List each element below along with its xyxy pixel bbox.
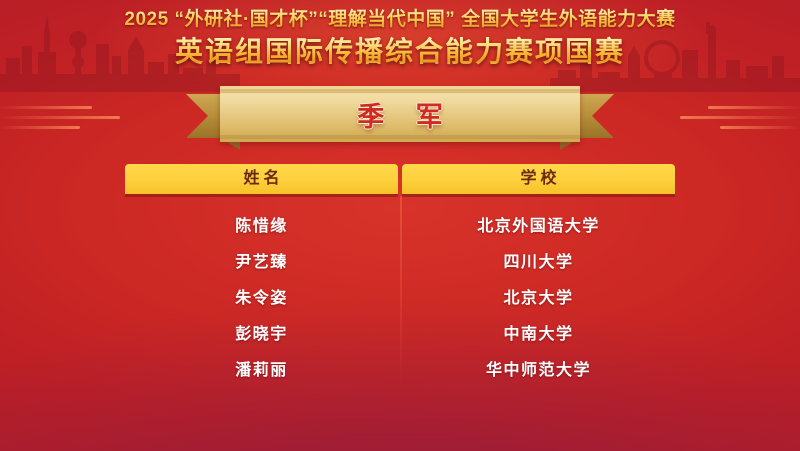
speed-line-right-2 [680, 116, 800, 119]
title-line-1: 2025 “外研社·国才杯”“理解当代中国” 全国大学生外语能力大赛 [0, 8, 800, 32]
cell-school: 中南大学 [402, 320, 675, 344]
cell-name: 陈惜缘 [125, 212, 398, 236]
cell-school: 北京大学 [402, 284, 675, 308]
speed-line-left-3 [0, 126, 80, 129]
title-line-2: 英语组国际传播综合能力赛项国赛 [0, 34, 800, 70]
column-divider [400, 196, 402, 386]
speed-line-left-2 [0, 116, 120, 119]
cell-name: 尹艺臻 [125, 248, 398, 272]
awards-slide: 2025 “外研社·国才杯”“理解当代中国” 全国大学生外语能力大赛 英语组国际… [0, 0, 800, 451]
page-title: 2025 “外研社·国才杯”“理解当代中国” 全国大学生外语能力大赛 英语组国际… [0, 8, 800, 70]
speed-line-left-1 [0, 106, 92, 109]
cell-name: 朱令姿 [125, 284, 398, 308]
cell-name: 彭晓宇 [125, 320, 398, 344]
table-header-row: 姓名 学校 [125, 164, 675, 194]
cell-name: 潘莉丽 [125, 356, 398, 380]
winners-table: 姓名 学校 陈惜缘 北京外国语大学 尹艺臻 四川大学 朱令姿 北京大学 彭晓宇 … [125, 164, 675, 386]
speed-line-right-3 [720, 126, 800, 129]
cell-school: 华中师范大学 [402, 356, 675, 380]
award-ribbon: 季 军 [220, 86, 580, 142]
column-header-school: 学校 [402, 164, 675, 194]
ribbon-label: 季 军 [220, 86, 580, 142]
column-header-name: 姓名 [125, 164, 398, 194]
speed-line-right-1 [708, 106, 800, 109]
table-body: 陈惜缘 北京外国语大学 尹艺臻 四川大学 朱令姿 北京大学 彭晓宇 中南大学 潘… [125, 206, 675, 386]
cell-school: 四川大学 [402, 248, 675, 272]
cell-school: 北京外国语大学 [402, 212, 675, 236]
